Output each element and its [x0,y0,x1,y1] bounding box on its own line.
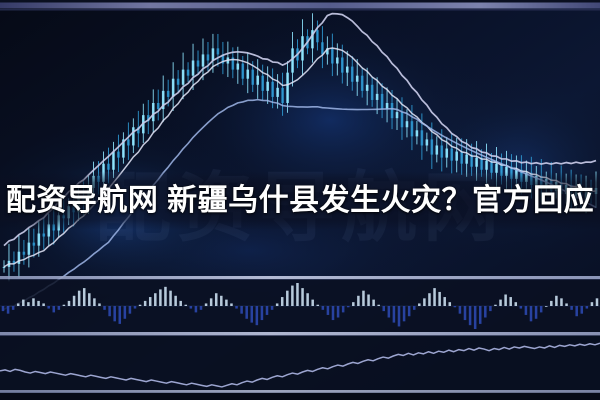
panel-divider-1 [0,276,600,280]
page-title: 配资导航网 新疆乌什县发生火灾？官方回应 [0,183,600,219]
thumbnail-image: 配资导航网 配资导航网 新疆乌什县发生火灾？官方回应 [0,0,600,400]
panel-divider-bottom [0,390,600,400]
indicator-panel-background [0,336,600,391]
panel-divider-2 [0,332,600,336]
